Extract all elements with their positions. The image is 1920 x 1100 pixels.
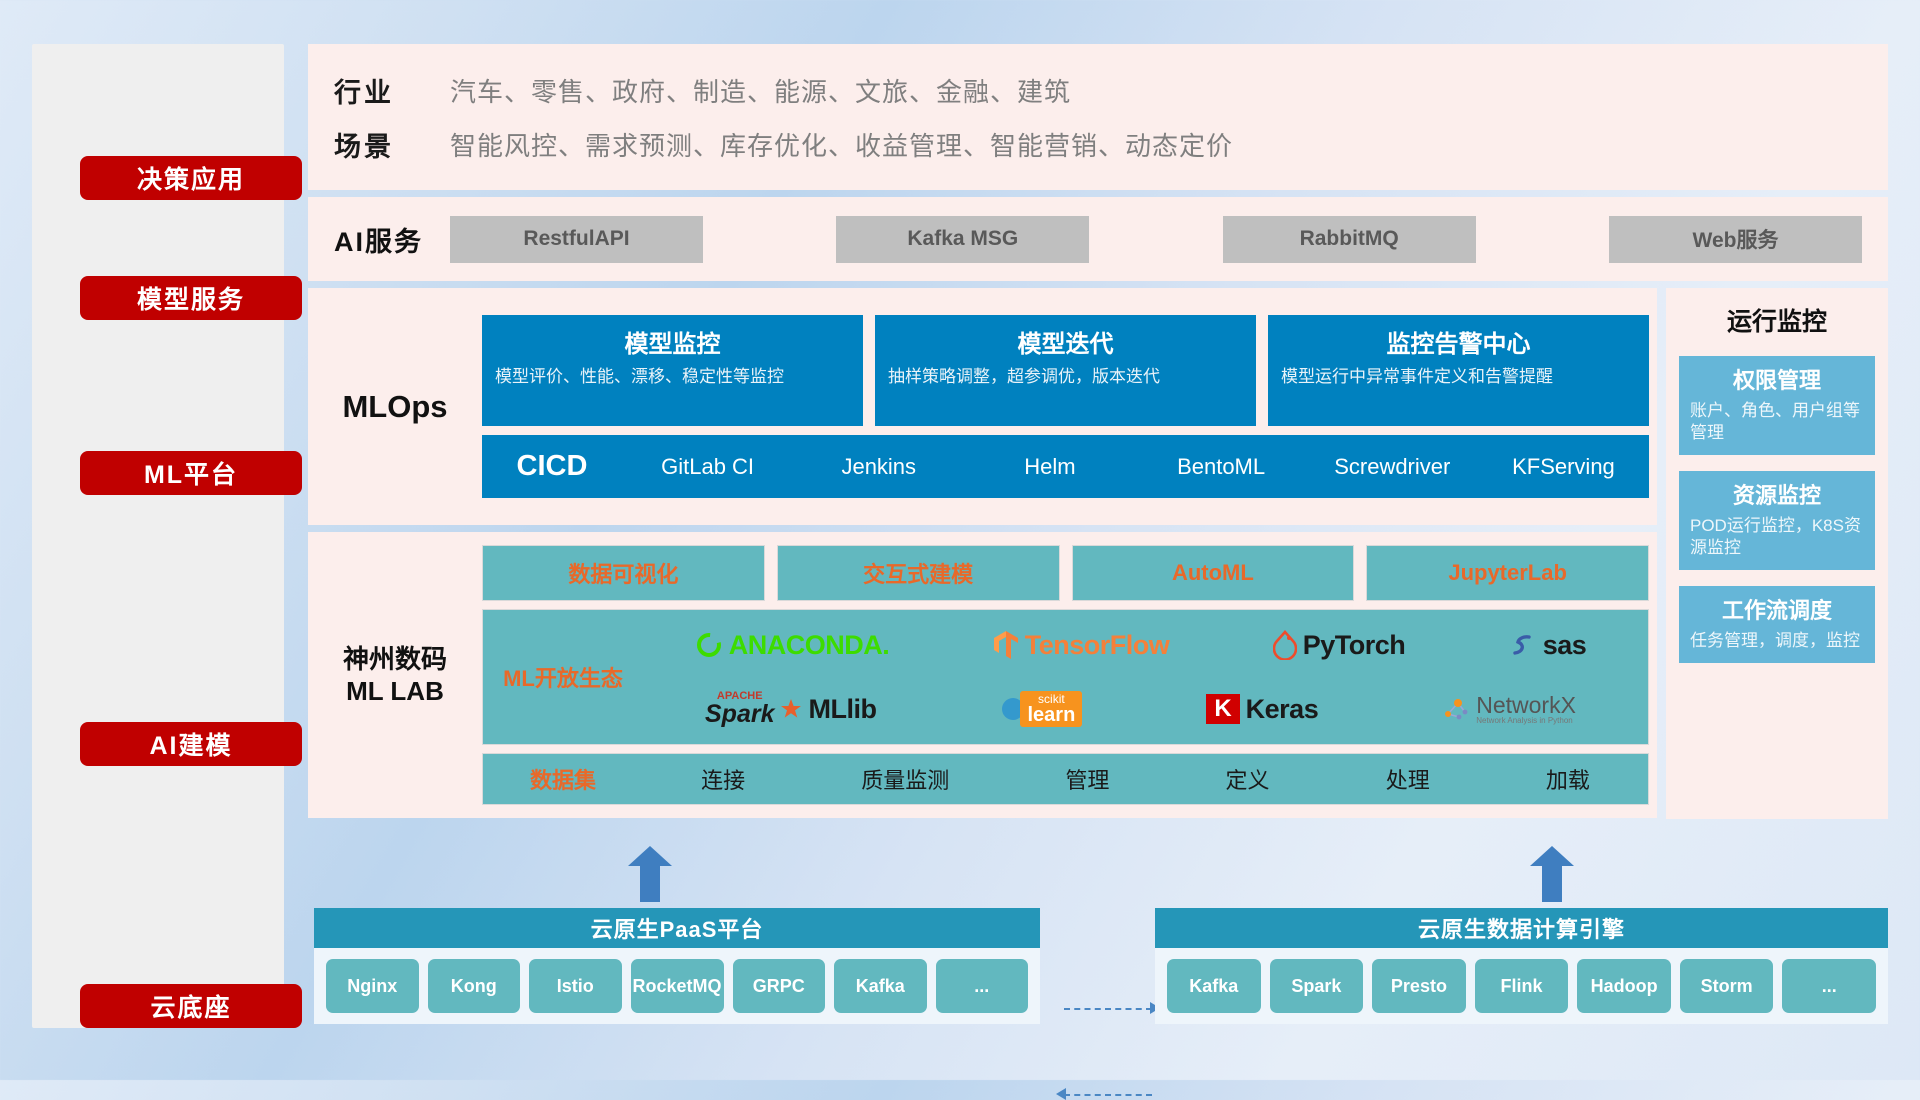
networkx-subtitle: Network Analysis in Python xyxy=(1476,717,1576,725)
logo-label: sas xyxy=(1543,630,1587,661)
cicd-item-bentoml[interactable]: BentoML xyxy=(1136,454,1307,480)
cloud-data-engine-title: 云原生数据计算引擎 xyxy=(1155,908,1888,948)
card-desc: 抽样策略调整，超参调优，版本迭代 xyxy=(888,366,1243,389)
cloud-data-item-spark[interactable]: Spark xyxy=(1270,959,1364,1013)
runtime-card-resource[interactable]: 资源监控 POD运行监控，K8S资源监控 xyxy=(1679,471,1875,570)
scenario-label: 场景 xyxy=(334,125,450,164)
sas-logo-icon xyxy=(1509,631,1537,659)
spark-star-icon xyxy=(780,698,802,720)
platform-area: MLOps 模型监控 模型评价、性能、漂移、稳定性等监控 模型迭代 抽样策略调整… xyxy=(308,288,1888,818)
logo-networkx[interactable]: NetworkX Network Analysis in Python xyxy=(1442,694,1576,725)
dataset-item-quality-monitor[interactable]: 质量监测 xyxy=(861,763,949,795)
runtime-card-workflow[interactable]: 工作流调度 任务管理，调度，监控 xyxy=(1679,586,1875,663)
scenario-row: 场景 智能风控、需求预测、库存优化、收益管理、智能营销、动态定价 xyxy=(334,117,1888,171)
mllab-tool-list: 数据可视化 交互式建模 AutoML JupyterLab xyxy=(482,545,1649,601)
cloud-paas-title: 云原生PaaS平台 xyxy=(314,908,1040,948)
rail-tag-cloud-base[interactable]: 云底座 xyxy=(80,984,302,1028)
networkx-wordmark: NetworkX Network Analysis in Python xyxy=(1476,694,1576,725)
cloud-paas-item-grpc[interactable]: GRPC xyxy=(733,959,826,1013)
dataset-item-process[interactable]: 处理 xyxy=(1386,763,1430,795)
logo-label: learn xyxy=(1027,705,1075,725)
mllab-tool-jupyterlab[interactable]: JupyterLab xyxy=(1366,545,1649,601)
mllab-label-line2: ML LAB xyxy=(308,675,482,708)
card-desc: 账户、角色、用户组等管理 xyxy=(1690,400,1864,444)
arrow-up-paas-icon xyxy=(628,846,672,902)
cloud-paas-item-list: Nginx Kong Istio RocketMQ GRPC Kafka ... xyxy=(314,948,1040,1024)
mlops-card-list: 模型监控 模型评价、性能、漂移、稳定性等监控 模型迭代 抽样策略调整，超参调优，… xyxy=(482,315,1649,426)
card-title: 工作流调度 xyxy=(1690,593,1864,625)
flow-line-left xyxy=(1064,1094,1152,1096)
mllab-band: 神州数码 ML LAB 数据可视化 交互式建模 AutoML JupyterLa… xyxy=(308,532,1657,818)
ai-service-chip-restfulapi[interactable]: RestfulAPI xyxy=(450,216,703,263)
scikit-learn-wordmark: scikit learn xyxy=(1020,691,1082,727)
cicd-item-screwdriver[interactable]: Screwdriver xyxy=(1307,454,1478,480)
ai-service-band: AI服务 RestfulAPI Kafka MSG RabbitMQ Web服务 xyxy=(308,197,1888,281)
cloud-base-area: 云原生PaaS平台 Nginx Kong Istio RocketMQ GRPC… xyxy=(308,890,1888,1030)
logo-spark-mllib[interactable]: APACHE Spark MLlib xyxy=(705,691,876,727)
application-band: 行业 汽车、零售、政府、制造、能源、文旅、金融、建筑 场景 智能风控、需求预测、… xyxy=(308,44,1888,190)
cloud-paas-item-more[interactable]: ... xyxy=(936,959,1029,1013)
tensorflow-logo-icon xyxy=(993,630,1019,660)
dataset-item-manage[interactable]: 管理 xyxy=(1065,763,1109,795)
cloud-paas-item-rocketmq[interactable]: RocketMQ xyxy=(631,959,724,1013)
cloud-data-engine-item-list: Kafka Spark Presto Flink Hadoop Storm ..… xyxy=(1155,948,1888,1024)
arrow-up-data-engine-icon xyxy=(1530,846,1574,902)
logo-label: MLlib xyxy=(808,694,876,725)
platform-left-column: MLOps 模型监控 模型评价、性能、漂移、稳定性等监控 模型迭代 抽样策略调整… xyxy=(308,288,1657,818)
card-desc: 模型运行中异常事件定义和告警提醒 xyxy=(1281,366,1636,389)
dataset-label: 数据集 xyxy=(483,763,643,795)
cicd-item-list: GitLab CI Jenkins Helm BentoML Screwdriv… xyxy=(622,454,1649,480)
ml-ecosystem-logos: ANACONDA. TensorFlow xyxy=(643,614,1648,740)
ai-service-chip-list: RestfulAPI Kafka MSG RabbitMQ Web服务 xyxy=(450,216,1888,263)
mlops-body: 模型监控 模型评价、性能、漂移、稳定性等监控 模型迭代 抽样策略调整，超参调优，… xyxy=(482,315,1657,498)
architecture-column: 行业 汽车、零售、政府、制造、能源、文旅、金融、建筑 场景 智能风控、需求预测、… xyxy=(308,44,1888,825)
rail-tag-ml-platform[interactable]: ML平台 xyxy=(80,451,302,495)
runtime-monitor-title: 运行监控 xyxy=(1679,302,1875,338)
card-desc: 模型评价、性能、漂移、稳定性等监控 xyxy=(495,366,850,389)
ai-service-chip-web[interactable]: Web服务 xyxy=(1609,216,1862,263)
cicd-item-helm[interactable]: Helm xyxy=(964,454,1135,480)
keras-mark-icon: K xyxy=(1206,694,1239,724)
networkx-logo-icon xyxy=(1442,696,1470,722)
cloud-data-item-kafka[interactable]: Kafka xyxy=(1167,959,1261,1013)
ml-ecosystem-logo-row-1: ANACONDA. TensorFlow xyxy=(643,614,1638,676)
mlops-band: MLOps 模型监控 模型评价、性能、漂移、稳定性等监控 模型迭代 抽样策略调整… xyxy=(308,288,1657,525)
flow-line-right xyxy=(1064,1008,1152,1010)
card-title: 模型迭代 xyxy=(888,324,1243,359)
cicd-title: CICD xyxy=(482,450,622,483)
cloud-data-item-storm[interactable]: Storm xyxy=(1680,959,1774,1013)
card-desc: 任务管理，调度，监控 xyxy=(1690,630,1864,652)
spark-wordmark: APACHE Spark xyxy=(705,691,774,727)
mllab-tool-interactive-modeling[interactable]: 交互式建模 xyxy=(777,545,1060,601)
ai-service-label: AI服务 xyxy=(334,220,450,259)
logo-tensorflow[interactable]: TensorFlow xyxy=(993,630,1170,661)
logo-label: ANACONDA. xyxy=(729,630,890,661)
ai-service-chip-kafka-msg[interactable]: Kafka MSG xyxy=(836,216,1089,263)
dataset-item-list: 连接 质量监测 管理 定义 处理 加载 xyxy=(643,763,1648,795)
spark-word: Spark xyxy=(705,702,774,727)
flow-arrow-left-icon xyxy=(1056,1088,1066,1100)
cloud-data-item-more[interactable]: ... xyxy=(1782,959,1876,1013)
cloud-paas-box: 云原生PaaS平台 Nginx Kong Istio RocketMQ GRPC… xyxy=(314,908,1040,1024)
card-title: 模型监控 xyxy=(495,324,850,359)
mlops-label: MLOps xyxy=(308,389,482,425)
rail-tag-ai-modeling[interactable]: AI建模 xyxy=(80,722,302,766)
industry-row: 行业 汽车、零售、政府、制造、能源、文旅、金融、建筑 xyxy=(334,63,1888,117)
anaconda-logo-icon xyxy=(695,631,723,659)
mlops-card-model-iteration[interactable]: 模型迭代 抽样策略调整，超参调优，版本迭代 xyxy=(875,315,1256,426)
pytorch-logo-icon xyxy=(1273,630,1297,660)
cicd-item-gitlab-ci[interactable]: GitLab CI xyxy=(622,454,793,480)
cloud-paas-item-kong[interactable]: Kong xyxy=(428,959,521,1013)
cloud-data-item-flink[interactable]: Flink xyxy=(1475,959,1569,1013)
card-title: 资源监控 xyxy=(1690,478,1864,510)
logo-scikit-learn[interactable]: scikit learn xyxy=(1000,691,1082,727)
dataset-item-load[interactable]: 加载 xyxy=(1546,763,1590,795)
ml-ecosystem-logo-row-2: APACHE Spark MLlib xyxy=(643,678,1638,740)
logo-anaconda[interactable]: ANACONDA. xyxy=(695,630,890,661)
runtime-monitor-panel: 运行监控 权限管理 账户、角色、用户组等管理 资源监控 POD运行监控，K8S资… xyxy=(1666,288,1888,819)
cloud-data-item-presto[interactable]: Presto xyxy=(1372,959,1466,1013)
logo-pytorch[interactable]: PyTorch xyxy=(1273,630,1406,661)
cloud-paas-item-kafka[interactable]: Kafka xyxy=(834,959,927,1013)
logo-label: TensorFlow xyxy=(1025,630,1170,661)
cloud-data-engine-box: 云原生数据计算引擎 Kafka Spark Presto Flink Hadoo… xyxy=(1155,908,1888,1024)
dataset-bar: 数据集 连接 质量监测 管理 定义 处理 加载 xyxy=(482,753,1649,805)
mllab-tool-data-visualization[interactable]: 数据可视化 xyxy=(482,545,765,601)
cicd-item-jenkins[interactable]: Jenkins xyxy=(793,454,964,480)
cicd-bar: CICD GitLab CI Jenkins Helm BentoML Scre… xyxy=(482,435,1649,498)
cloud-paas-item-istio[interactable]: Istio xyxy=(529,959,622,1013)
rail-tag-model-service[interactable]: 模型服务 xyxy=(80,276,302,320)
ai-service-chip-rabbitmq[interactable]: RabbitMQ xyxy=(1223,216,1476,263)
scenario-value: 智能风控、需求预测、库存优化、收益管理、智能营销、动态定价 xyxy=(450,126,1233,163)
logo-sas[interactable]: sas xyxy=(1509,630,1587,661)
cloud-paas-item-nginx[interactable]: Nginx xyxy=(326,959,419,1013)
logo-keras[interactable]: K Keras xyxy=(1206,694,1318,725)
card-desc: POD运行监控，K8S资源监控 xyxy=(1690,515,1864,559)
industry-label: 行业 xyxy=(334,71,450,110)
logo-label: Keras xyxy=(1246,694,1319,725)
mllab-label: 神州数码 ML LAB xyxy=(308,643,482,708)
rail-tag-decision-app[interactable]: 决策应用 xyxy=(80,156,302,200)
mllab-tool-automl[interactable]: AutoML xyxy=(1072,545,1355,601)
mllab-body: 数据可视化 交互式建模 AutoML JupyterLab ML开放生态 xyxy=(482,545,1657,805)
logo-label: NetworkX xyxy=(1476,694,1576,717)
industry-value: 汽车、零售、政府、制造、能源、文旅、金融、建筑 xyxy=(450,72,1071,109)
ml-ecosystem-panel: ML开放生态 ANACONDA. xyxy=(482,609,1649,745)
mlops-card-alert-center[interactable]: 监控告警中心 模型运行中异常事件定义和告警提醒 xyxy=(1268,315,1649,426)
runtime-card-permission[interactable]: 权限管理 账户、角色、用户组等管理 xyxy=(1679,356,1875,455)
card-title: 监控告警中心 xyxy=(1281,324,1636,359)
card-title: 权限管理 xyxy=(1690,363,1864,395)
ml-ecosystem-label: ML开放生态 xyxy=(483,661,643,693)
cicd-item-kfserving[interactable]: KFServing xyxy=(1478,454,1649,480)
dataset-item-define[interactable]: 定义 xyxy=(1226,763,1270,795)
logo-label: PyTorch xyxy=(1303,630,1406,661)
cloud-data-item-hadoop[interactable]: Hadoop xyxy=(1577,959,1671,1013)
dataset-item-connect[interactable]: 连接 xyxy=(701,763,745,795)
mlops-card-model-monitor[interactable]: 模型监控 模型评价、性能、漂移、稳定性等监控 xyxy=(482,315,863,426)
mllab-label-line1: 神州数码 xyxy=(308,643,482,676)
layer-rail: 决策应用 模型服务 ML平台 AI建模 云底座 xyxy=(32,44,284,1028)
